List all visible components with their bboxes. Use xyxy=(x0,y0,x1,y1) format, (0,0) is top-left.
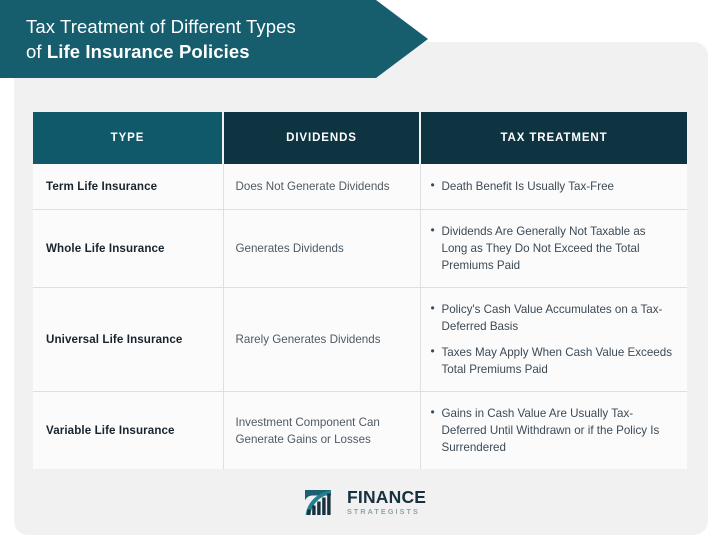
footer-logo: FINANCE STRATEGISTS xyxy=(303,487,426,517)
tax-treatment-bullet-list: Dividends Are Generally Not Taxable as L… xyxy=(431,223,674,274)
table-row: Term Life Insurance Does Not Generate Di… xyxy=(33,164,687,210)
cell-dividends: Does Not Generate Dividends xyxy=(223,164,420,210)
cell-type: Whole Life Insurance xyxy=(33,210,223,288)
page-title-line2-plain: of xyxy=(26,41,47,62)
page-title-line1: Tax Treatment of Different Types xyxy=(26,14,388,39)
logo-name: FINANCE xyxy=(347,489,426,507)
title-banner: Tax Treatment of Different Types of Life… xyxy=(0,0,428,78)
tax-treatment-bullet-list: Gains in Cash Value Are Usually Tax-Defe… xyxy=(431,405,674,456)
table-row: Whole Life Insurance Generates Dividends… xyxy=(33,210,687,288)
page-title-line2-bold: Life Insurance Policies xyxy=(47,41,250,62)
tax-treatment-bullet-list: Policy's Cash Value Accumulates on a Tax… xyxy=(431,301,674,378)
cell-type: Term Life Insurance xyxy=(33,164,223,210)
cell-tax-treatment: Policy's Cash Value Accumulates on a Tax… xyxy=(420,288,687,392)
list-item: Death Benefit Is Usually Tax-Free xyxy=(431,178,674,195)
list-item: Gains in Cash Value Are Usually Tax-Defe… xyxy=(431,405,674,456)
table-header: TYPE DIVIDENDS TAX TREATMENT xyxy=(33,112,687,164)
table-row: Variable Life Insurance Investment Compo… xyxy=(33,392,687,470)
cell-dividends: Rarely Generates Dividends xyxy=(223,288,420,392)
cell-tax-treatment: Death Benefit Is Usually Tax-Free xyxy=(420,164,687,210)
list-item: Dividends Are Generally Not Taxable as L… xyxy=(431,223,674,274)
cell-type: Universal Life Insurance xyxy=(33,288,223,392)
tax-treatment-table: TYPE DIVIDENDS TAX TREATMENT Term Life I… xyxy=(33,112,687,469)
table-header-row: TYPE DIVIDENDS TAX TREATMENT xyxy=(33,112,687,164)
infographic-page: Tax Treatment of Different Types of Life… xyxy=(0,0,720,547)
logo-wordmark: FINANCE STRATEGISTS xyxy=(347,489,426,516)
column-header-type: TYPE xyxy=(33,112,223,164)
page-title: Tax Treatment of Different Types of Life… xyxy=(0,14,428,64)
logo-subtitle: STRATEGISTS xyxy=(347,508,426,515)
cell-tax-treatment: Gains in Cash Value Are Usually Tax-Defe… xyxy=(420,392,687,470)
page-title-line2: of Life Insurance Policies xyxy=(26,39,388,64)
table-row: Universal Life Insurance Rarely Generate… xyxy=(33,288,687,392)
cell-tax-treatment: Dividends Are Generally Not Taxable as L… xyxy=(420,210,687,288)
list-item: Policy's Cash Value Accumulates on a Tax… xyxy=(431,301,674,335)
tax-treatment-bullet-list: Death Benefit Is Usually Tax-Free xyxy=(431,178,674,195)
cell-type: Variable Life Insurance xyxy=(33,392,223,470)
finance-strategists-chart-swoosh-icon xyxy=(303,487,341,517)
cell-dividends: Generates Dividends xyxy=(223,210,420,288)
cell-dividends: Investment Component Can Generate Gains … xyxy=(223,392,420,470)
column-header-dividends: DIVIDENDS xyxy=(223,112,420,164)
table-body: Term Life Insurance Does Not Generate Di… xyxy=(33,164,687,469)
column-header-tax-treatment: TAX TREATMENT xyxy=(420,112,687,164)
list-item: Taxes May Apply When Cash Value Exceeds … xyxy=(431,344,674,378)
